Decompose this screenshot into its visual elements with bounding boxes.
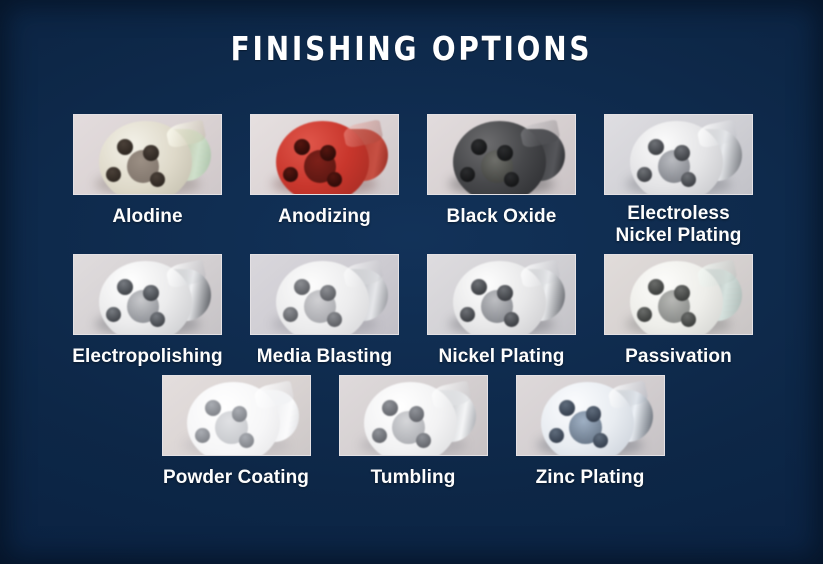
machined-flange-part-illustration — [163, 376, 310, 455]
finish-option-label: Zinc Plating — [505, 467, 675, 489]
finish-option-label: Passivation — [594, 346, 764, 368]
finish-option-card[interactable]: Tumbling — [339, 375, 488, 489]
finish-option-label: Alodine — [63, 206, 233, 228]
alodine-part-photo[interactable] — [73, 114, 222, 195]
tumbling-part-photo[interactable] — [339, 375, 488, 456]
anodizing-part-photo[interactable] — [250, 114, 399, 195]
finish-option-card[interactable]: ElectrolessNickel Plating — [604, 114, 753, 247]
finishing-options-grid: AlodineAnodizingBlack OxideElectrolessNi… — [60, 114, 766, 489]
machined-flange-part-illustration — [428, 115, 575, 194]
machined-flange-part-illustration — [251, 115, 398, 194]
finishing-options-poster: FINISHING OPTIONS AlodineAnodizingBlack … — [0, 0, 823, 564]
machined-flange-part-illustration — [74, 255, 221, 334]
media-blasting-part-photo[interactable] — [250, 254, 399, 335]
finish-option-label: Nickel Plating — [417, 346, 587, 368]
finishing-options-row-2: ElectropolishingMedia BlastingNickel Pla… — [60, 254, 766, 368]
finishing-options-row-1: AlodineAnodizingBlack OxideElectrolessNi… — [60, 114, 766, 247]
finish-option-card[interactable]: Zinc Plating — [516, 375, 665, 489]
finish-option-card[interactable]: Nickel Plating — [427, 254, 576, 368]
finish-option-card[interactable]: Passivation — [604, 254, 753, 368]
machined-flange-part-illustration — [74, 115, 221, 194]
finish-option-label: Media Blasting — [240, 346, 410, 368]
black-oxide-part-photo[interactable] — [427, 114, 576, 195]
page-title: FINISHING OPTIONS — [25, 29, 799, 69]
finish-option-card[interactable]: Media Blasting — [250, 254, 399, 368]
finish-option-card[interactable]: Alodine — [73, 114, 222, 228]
zinc-plating-part-photo[interactable] — [516, 375, 665, 456]
machined-flange-part-illustration — [340, 376, 487, 455]
machined-flange-part-illustration — [605, 115, 752, 194]
machined-flange-part-illustration — [251, 255, 398, 334]
finish-option-label: Black Oxide — [417, 206, 587, 228]
electropolishing-part-photo[interactable] — [73, 254, 222, 335]
finish-option-label: Electropolishing — [63, 346, 233, 368]
finishing-options-row-3: Powder CoatingTumblingZinc Plating — [60, 375, 766, 489]
finish-option-label: Powder Coating — [151, 467, 321, 489]
finish-option-label: Anodizing — [240, 206, 410, 228]
powder-coating-part-photo[interactable] — [162, 375, 311, 456]
finish-option-card[interactable]: Electropolishing — [73, 254, 222, 368]
nickel-plating-part-photo[interactable] — [427, 254, 576, 335]
machined-flange-part-illustration — [428, 255, 575, 334]
finish-option-label: ElectrolessNickel Plating — [594, 203, 764, 247]
electroless-nickel-plating-part-photo[interactable] — [604, 114, 753, 195]
finish-option-card[interactable]: Black Oxide — [427, 114, 576, 228]
machined-flange-part-illustration — [517, 376, 664, 455]
finish-option-card[interactable]: Powder Coating — [162, 375, 311, 489]
machined-flange-part-illustration — [605, 255, 752, 334]
passivation-part-photo[interactable] — [604, 254, 753, 335]
finish-option-card[interactable]: Anodizing — [250, 114, 399, 228]
finish-option-label: Tumbling — [328, 467, 498, 489]
